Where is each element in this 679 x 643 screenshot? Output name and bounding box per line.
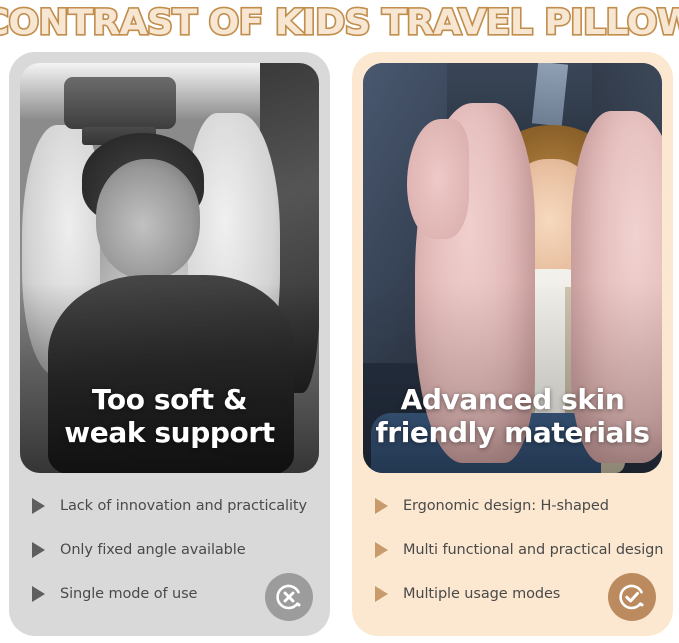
headline-line-1: Too soft &	[28, 383, 311, 416]
triangle-bullet-icon	[375, 586, 388, 602]
list-item-label: Multi functional and practical design	[403, 542, 663, 558]
triangle-bullet-icon	[32, 542, 45, 558]
comparison-panels: Too soft & weak support Lack of innovati…	[0, 52, 679, 643]
circle-check-icon	[615, 580, 649, 614]
list-item-label: Only fixed angle available	[60, 542, 246, 558]
triangle-bullet-icon	[375, 542, 388, 558]
headline-line-2: friendly materials	[371, 416, 654, 449]
photo-headline-negative: Too soft & weak support	[20, 383, 319, 449]
headline-line-1: Advanced skin	[371, 383, 654, 416]
page-title-bar: CONTRAST OF KIDS TRAVEL PILLOW	[0, 0, 679, 46]
list-item-label: Single mode of use	[60, 586, 197, 602]
triangle-bullet-icon	[375, 498, 388, 514]
photo-card-negative: Too soft & weak support	[20, 63, 319, 473]
list-item: Ergonomic design: H-shaped	[365, 486, 660, 526]
status-badge-positive	[608, 573, 656, 621]
photo-headrest	[64, 77, 176, 129]
page-title: CONTRAST OF KIDS TRAVEL PILLOW	[0, 4, 679, 42]
circle-x-icon	[272, 580, 306, 614]
list-item: Lack of innovation and practicality	[22, 486, 317, 526]
list-item-label: Ergonomic design: H-shaped	[403, 498, 609, 514]
headline-line-2: weak support	[28, 416, 311, 449]
photo-child-face	[96, 159, 200, 279]
list-item-label: Lack of innovation and practicality	[60, 498, 307, 514]
list-item: Only fixed angle available	[22, 530, 317, 570]
comparison-panel-negative: Too soft & weak support Lack of innovati…	[9, 52, 330, 636]
list-item: Multi functional and practical design	[365, 530, 660, 570]
photo-card-positive: Advanced skin friendly materials	[363, 63, 662, 473]
photo-headline-positive: Advanced skin friendly materials	[363, 383, 662, 449]
status-badge-negative	[265, 573, 313, 621]
triangle-bullet-icon	[32, 498, 45, 514]
list-item-label: Multiple usage modes	[403, 586, 560, 602]
triangle-bullet-icon	[32, 586, 45, 602]
comparison-panel-positive: Advanced skin friendly materials Ergonom…	[352, 52, 673, 636]
